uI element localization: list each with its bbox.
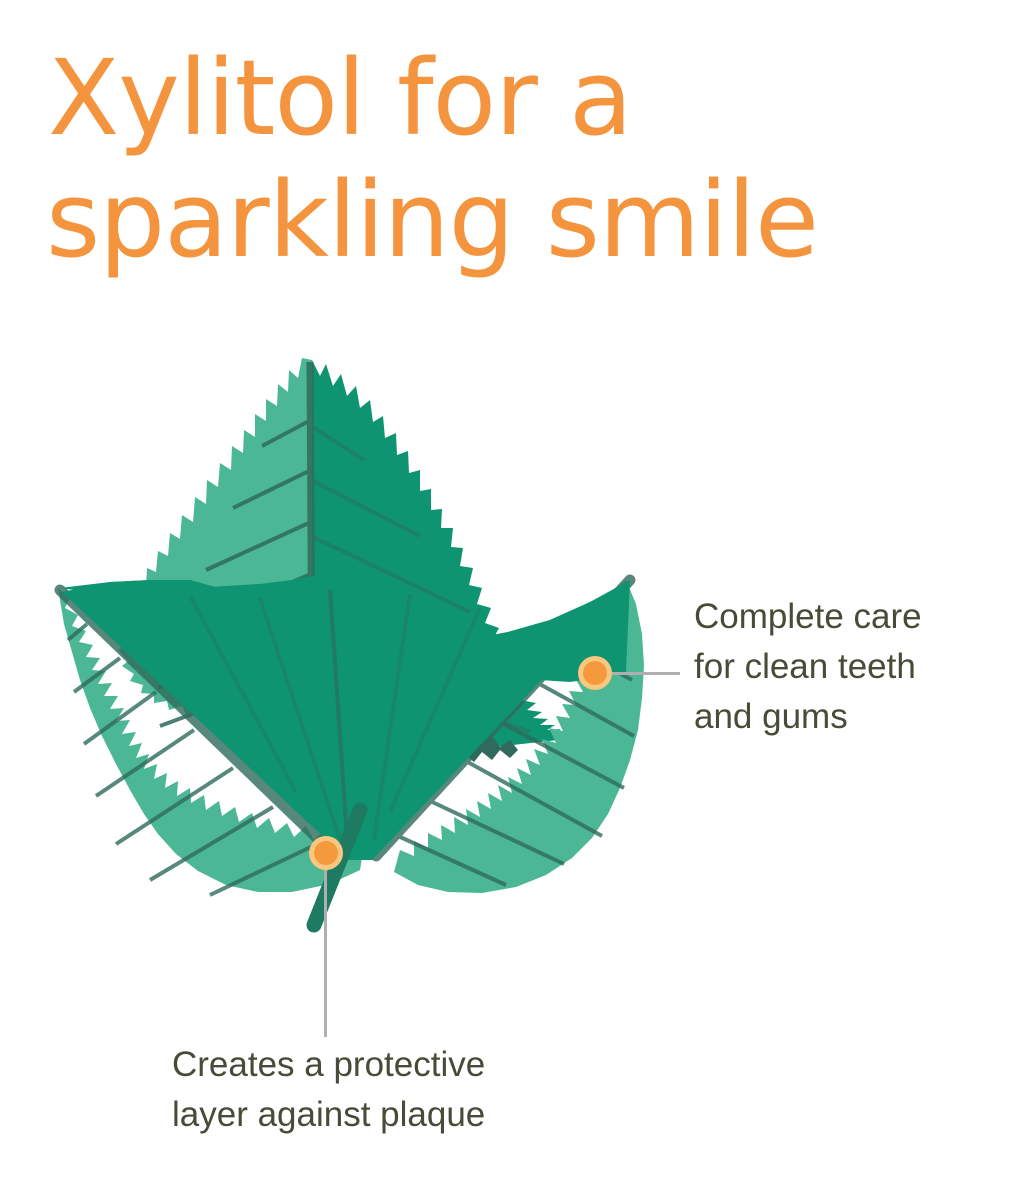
- callout-bottom-line-2: layer against plaque: [172, 1090, 592, 1140]
- page-title-line-2: sparkling smile: [46, 156, 808, 284]
- leaf-illustration: [30, 340, 670, 950]
- callout-right-line-3: and gums: [694, 692, 1004, 742]
- infographic-canvas: Xylitol for a sparkling smile: [0, 0, 1012, 1200]
- callout-right-line-1: Complete care: [694, 592, 1004, 642]
- callout-bottom-line-1: Creates a protective: [172, 1040, 592, 1090]
- page-title: Xylitol for a sparkling smile: [48, 34, 808, 284]
- callout-right-leader-line: [606, 672, 680, 675]
- callout-bottom-leader-line: [324, 862, 327, 1037]
- callout-bottom-marker-dot[interactable]: [309, 836, 343, 870]
- callout-right-marker-dot[interactable]: [578, 656, 612, 690]
- callout-bottom-text: Creates a protective layer against plaqu…: [172, 1040, 592, 1140]
- callout-right-line-2: for clean teeth: [694, 642, 1004, 692]
- callout-right-text: Complete care for clean teeth and gums: [694, 592, 1004, 742]
- page-title-line-1: Xylitol for a: [48, 34, 808, 162]
- leaf-svg: [30, 340, 670, 950]
